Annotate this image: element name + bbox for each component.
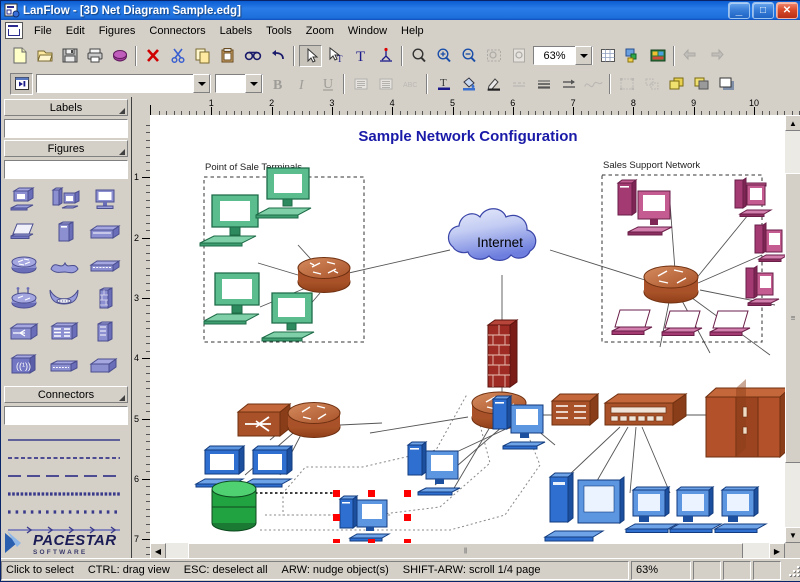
- ruler-tick: [142, 358, 150, 359]
- open-file-button[interactable]: [33, 45, 56, 67]
- zoom-selection-icon: [485, 47, 503, 64]
- find-button[interactable]: [241, 45, 264, 67]
- select-text-icon: T: [327, 47, 345, 64]
- diagram-title: Sample Network Configuration: [358, 128, 577, 145]
- status-hint-1: Click to select: [6, 564, 74, 576]
- ruler-label: 9: [691, 98, 696, 108]
- group-button[interactable]: [615, 73, 638, 95]
- ungroup-icon: [643, 76, 661, 92]
- vertical-ruler: 12345678: [132, 115, 151, 559]
- sidebar-group-figures-title: Figures: [48, 143, 85, 155]
- panel-toggle-button[interactable]: [10, 73, 33, 95]
- document-work-area: 1234567891011 12345678: [132, 97, 800, 559]
- v-scroll-grip: ≡: [791, 314, 796, 323]
- pos-terminal-2: [256, 168, 311, 218]
- zoom-out-icon: [460, 47, 478, 64]
- palette-item-modem-rack[interactable]: [85, 315, 125, 348]
- status-hints-panel: Click to select CTRL: drag view ESC: des…: [1, 561, 629, 580]
- ruler-tick: [142, 539, 150, 540]
- figure-props-icon: [624, 47, 642, 64]
- laptop-icon: [8, 220, 42, 246]
- spellcheck-icon: ABC: [401, 76, 421, 92]
- patch-panel: [552, 394, 598, 425]
- pos-router: [298, 258, 350, 293]
- svg-text:I: I: [298, 78, 305, 92]
- zoom-tool-icon: [410, 47, 428, 64]
- app-icon: [4, 3, 20, 18]
- cut-button[interactable]: [166, 45, 189, 67]
- arrow-style-icon: [560, 76, 578, 92]
- eraser-button[interactable]: [108, 45, 131, 67]
- sales-laptop-1: [612, 310, 652, 335]
- bold-button[interactable]: B: [266, 73, 289, 95]
- send-back-button[interactable]: [690, 73, 713, 95]
- sales-laptop-3: [710, 311, 750, 336]
- handle-e: [404, 514, 411, 521]
- document-icon[interactable]: [5, 22, 23, 39]
- delete-icon: [144, 47, 162, 64]
- scroll-up-arrow[interactable]: ▲: [785, 115, 800, 131]
- curve-button[interactable]: [582, 73, 605, 95]
- status-hint-3: ESC: deselect all: [184, 564, 268, 576]
- panel-toggle-icon: [14, 76, 30, 91]
- diagram-page[interactable]: Sample Network Configuration Point of Sa…: [150, 115, 785, 543]
- handle-ne: [404, 490, 411, 497]
- tower-monitor-icon: [48, 187, 82, 213]
- zoom-in-button[interactable]: [432, 45, 455, 67]
- text-tool-button[interactable]: T: [349, 45, 372, 67]
- grid-button[interactable]: [596, 45, 619, 67]
- pacestar-mark-icon: [3, 527, 33, 557]
- select-arrow-button[interactable]: [299, 45, 322, 67]
- spellcheck-button[interactable]: ABC: [399, 73, 422, 95]
- resize-grip-icon[interactable]: [119, 108, 125, 114]
- line-weight-icon: [535, 76, 553, 92]
- window-title: LanFlow - [3D Net Diagram Sample.edg]: [23, 5, 728, 17]
- selected-workstation: [340, 496, 389, 541]
- distribution-router: [288, 403, 340, 438]
- status-hint-5: SHIFT-ARW: scroll 1/4 page: [403, 564, 541, 576]
- horizontal-ruler: 1234567891011: [150, 97, 800, 116]
- connectors-combo[interactable]: [4, 406, 128, 425]
- eraser-icon: [111, 47, 129, 64]
- h-scroll-grip: ‖: [464, 547, 467, 556]
- ruler-tick: [142, 419, 150, 420]
- ruler-label: 7: [571, 98, 576, 108]
- shadow-icon: [718, 76, 736, 92]
- pacestar-logo: PACESTAR SOFTWARE: [1, 515, 132, 559]
- curve-icon: [583, 76, 604, 92]
- vertical-scrollbar[interactable]: ▲ ≡ ▼: [785, 115, 800, 543]
- server-tower-icon: [48, 220, 82, 246]
- firewall: [488, 320, 517, 387]
- svg-text:((¹)): ((¹)): [16, 361, 31, 371]
- arrow-style-button[interactable]: [557, 73, 580, 95]
- ruler-tick: [754, 107, 755, 115]
- h-scroll-track[interactable]: ‖: [166, 543, 769, 559]
- sales-pc-1: [735, 178, 771, 217]
- scroll-left-arrow[interactable]: ◀: [150, 543, 166, 559]
- svg-text:T: T: [337, 54, 343, 64]
- ruler-label: 4: [390, 98, 395, 108]
- line-color-icon: [485, 75, 503, 92]
- ruler-label: 6: [510, 98, 515, 108]
- ruler-tick: [142, 479, 150, 480]
- dotted-line-icon: [7, 490, 121, 498]
- svg-text:T: T: [356, 49, 365, 64]
- new-file-button[interactable]: [8, 45, 31, 67]
- open-file-icon: [36, 47, 54, 64]
- status-hint-2: CTRL: drag view: [88, 564, 170, 576]
- handle-nw: [333, 490, 340, 497]
- ruler-tick: [453, 107, 454, 115]
- line-color-button[interactable]: [482, 73, 505, 95]
- switch-flat-icon: [48, 352, 82, 378]
- ruler-label: 7: [134, 534, 139, 544]
- window-controls: _ □ ✕: [728, 2, 798, 19]
- print-icon: [86, 47, 104, 64]
- network-diagram: Sample Network Configuration Point of Sa…: [150, 115, 785, 543]
- modem-rack-icon: [88, 319, 122, 345]
- firewall-icon: [88, 286, 122, 312]
- connector-tool-icon: [377, 47, 395, 64]
- palette-item-wan-cloud[interactable]: [45, 249, 85, 282]
- ruler-tick: [694, 107, 695, 115]
- group-icon: [618, 76, 636, 92]
- palette-connector-long-dash[interactable]: [7, 467, 125, 485]
- undo-icon: [269, 47, 287, 64]
- h-scroll-thumb[interactable]: ‖: [188, 543, 743, 559]
- minimize-button[interactable]: _: [728, 2, 750, 19]
- labels-combo[interactable]: [4, 119, 128, 138]
- workstation-br-2: [626, 487, 677, 533]
- zoom-selection-button[interactable]: [482, 45, 505, 67]
- nudge-left-button[interactable]: [679, 45, 702, 67]
- font-size-combo[interactable]: [215, 74, 263, 93]
- zoom-level-combo[interactable]: 63%: [533, 46, 593, 65]
- internet-cloud: Internet: [448, 209, 535, 261]
- palette-item-switch-flat[interactable]: [45, 348, 85, 381]
- zoom-out-button[interactable]: [457, 45, 480, 67]
- status-bar: Click to select CTRL: drag view ESC: des…: [1, 558, 800, 581]
- ruler-tick: [633, 107, 634, 115]
- main-toolbar: T T: [1, 41, 800, 71]
- ruler-tick: [142, 298, 150, 299]
- ruler-label: 2: [134, 233, 139, 243]
- save-icon: [61, 47, 79, 64]
- switch: [605, 394, 686, 425]
- menu-item-edit[interactable]: Edit: [59, 23, 92, 39]
- copy-icon: [194, 47, 212, 64]
- ruler-tick: [272, 107, 273, 115]
- ruler-tick: [142, 238, 150, 239]
- ruler-tick: [332, 107, 333, 115]
- figure-palette: ((¹)): [1, 183, 131, 381]
- flat-monitor-icon: [88, 187, 122, 213]
- pos-terminal-3: [204, 273, 259, 324]
- zoom-dropdown-arrow[interactable]: [575, 46, 592, 65]
- palette-item-laptop[interactable]: [5, 216, 45, 249]
- palette-item-hub[interactable]: [5, 315, 45, 348]
- sidebar-group-connectors[interactable]: Connectors: [4, 386, 128, 403]
- hub-icon: [8, 319, 42, 345]
- ruler-tick: [392, 107, 393, 115]
- ruler-label: 3: [329, 98, 334, 108]
- wireless-router-icon: [8, 286, 42, 312]
- title-bar: LanFlow - [3D Net Diagram Sample.edg] _ …: [1, 1, 800, 20]
- palette-item-tower-monitor[interactable]: [45, 183, 85, 216]
- zoom-page-icon: [510, 47, 528, 64]
- v-scroll-track[interactable]: ≡: [785, 131, 800, 527]
- scroll-right-arrow[interactable]: ▶: [769, 543, 785, 559]
- palette-item-network-arc[interactable]: [45, 282, 85, 315]
- palette-icon: [649, 47, 667, 64]
- ruler-label: 8: [631, 98, 636, 108]
- database: [212, 481, 256, 531]
- switch-icon: [88, 253, 122, 279]
- select-text-button[interactable]: T: [324, 45, 347, 67]
- text-color-button[interactable]: T: [432, 73, 455, 95]
- line-weight-button[interactable]: [532, 73, 555, 95]
- server-rack: [706, 379, 785, 457]
- v-scroll-thumb[interactable]: ≡: [785, 173, 800, 463]
- menu-item-file[interactable]: File: [27, 23, 59, 39]
- ruler-label: 6: [134, 474, 139, 484]
- align-text-justify-icon: [377, 76, 395, 92]
- ruler-tick: [573, 107, 574, 115]
- shadow-button[interactable]: [715, 73, 738, 95]
- status-panel-4: [753, 561, 781, 580]
- connector-tool-button[interactable]: [374, 45, 397, 67]
- fill-color-icon: [460, 75, 478, 92]
- dashed-line-icon: [7, 454, 121, 462]
- zoom-page-button[interactable]: [507, 45, 530, 67]
- maximize-button[interactable]: □: [752, 2, 774, 19]
- status-zoom-panel: 63%: [631, 561, 691, 580]
- minimize-icon: _: [729, 3, 749, 18]
- align-text-justify-button[interactable]: [374, 73, 397, 95]
- resize-grip-icon[interactable]: [119, 149, 125, 155]
- menu-bar: File Edit Figures Connectors Labels Tool…: [1, 20, 800, 42]
- menu-item-connectors[interactable]: Connectors: [142, 23, 212, 39]
- palette-button[interactable]: [646, 45, 669, 67]
- ruler-corner: [132, 97, 151, 116]
- italic-icon: I: [294, 76, 312, 92]
- menu-item-figures[interactable]: Figures: [92, 23, 143, 39]
- hub: [238, 404, 290, 436]
- ruler-label: 4: [134, 353, 139, 363]
- svg-text:ABC: ABC: [403, 82, 417, 89]
- print-button[interactable]: [83, 45, 106, 67]
- sidebar-group-figures[interactable]: Figures: [4, 140, 128, 157]
- new-file-icon: [11, 47, 29, 64]
- long-dash-line-icon: [7, 472, 121, 480]
- pos-terminal-1: [200, 195, 258, 246]
- font-name-dropdown-arrow[interactable]: [193, 74, 210, 93]
- save-button[interactable]: [58, 45, 81, 67]
- zoom-level-value: 63%: [534, 50, 575, 62]
- status-panel-3: [723, 561, 751, 580]
- find-icon: [244, 47, 262, 64]
- paste-icon: [219, 47, 237, 64]
- paste-button[interactable]: [216, 45, 239, 67]
- underline-button[interactable]: U: [316, 73, 339, 95]
- sales-router: [644, 266, 698, 303]
- figure-properties-button[interactable]: [621, 45, 644, 67]
- palette-item-server-tower[interactable]: [45, 216, 85, 249]
- box-3d-icon: [88, 352, 122, 378]
- italic-button[interactable]: I: [291, 73, 314, 95]
- palette-item-box-3d[interactable]: [85, 348, 125, 381]
- logo-subtitle: SOFTWARE: [33, 549, 116, 556]
- line-style-button[interactable]: [507, 73, 530, 95]
- zoom-tool-button[interactable]: [407, 45, 430, 67]
- router-icon: [8, 253, 42, 279]
- ruler-label: 10: [749, 98, 759, 108]
- maximize-icon: □: [753, 3, 773, 18]
- status-hint-4: ARW: nudge object(s): [282, 564, 389, 576]
- workstation-left-2: [244, 446, 292, 487]
- line-style-icon: [510, 76, 528, 92]
- palette-connector-solid[interactable]: [7, 431, 125, 449]
- palette-connector-dashed[interactable]: [7, 449, 125, 467]
- close-icon: ✕: [777, 3, 797, 18]
- select-arrow-icon: [302, 47, 320, 64]
- workstation-br-4: [715, 487, 766, 533]
- menu-item-labels[interactable]: Labels: [213, 23, 259, 39]
- bold-icon: B: [269, 76, 287, 92]
- workstation-br-3: [670, 487, 721, 533]
- diagram-canvas[interactable]: Sample Network Configuration Point of Sa…: [150, 115, 785, 543]
- sales-laptop-2: [662, 311, 702, 336]
- rack-unit-icon: [88, 220, 122, 246]
- palette-item-router[interactable]: [5, 249, 45, 282]
- cut-icon: [169, 47, 187, 64]
- palette-item-desktop-computer[interactable]: [5, 183, 45, 216]
- status-panel-2: [693, 561, 721, 580]
- palette-item-patch-panel[interactable]: [45, 315, 85, 348]
- nudge-right-button[interactable]: [704, 45, 727, 67]
- fill-color-button[interactable]: [457, 73, 480, 95]
- bring-front-button[interactable]: [665, 73, 688, 95]
- format-toolbar: B I U: [1, 70, 800, 98]
- desktop-computer-icon: [8, 187, 42, 213]
- workstation-br-1: [545, 473, 624, 541]
- ruler-label: 5: [134, 414, 139, 424]
- palette-item-firewall[interactable]: [85, 282, 125, 315]
- font-name-combo[interactable]: [36, 74, 211, 93]
- svg-text:T: T: [440, 77, 447, 89]
- scroll-corner: [785, 543, 800, 559]
- menu-item-help[interactable]: Help: [394, 23, 431, 39]
- copy-button[interactable]: [191, 45, 214, 67]
- ruler-label: 1: [209, 98, 214, 108]
- logo-name: PACESTAR: [33, 532, 116, 549]
- ruler-tick: [142, 177, 150, 178]
- align-right-icon: [707, 47, 725, 64]
- ruler-tick: [211, 107, 212, 115]
- sidebar-group-labels-title: Labels: [50, 102, 82, 114]
- figure-sidebar: Labels Figures: [1, 97, 132, 559]
- internet-label: Internet: [477, 235, 523, 250]
- palette-item-flat-monitor[interactable]: [85, 183, 125, 216]
- menu-item-zoom[interactable]: Zoom: [299, 23, 341, 39]
- menu-item-tools[interactable]: Tools: [259, 23, 299, 39]
- zoom-in-icon: [435, 47, 453, 64]
- ruler-label: 5: [450, 98, 455, 108]
- ungroup-button[interactable]: [640, 73, 663, 95]
- align-left-icon: [682, 47, 700, 64]
- align-text-left-icon: [352, 76, 370, 92]
- resize-grip-icon[interactable]: [119, 395, 125, 401]
- figures-combo[interactable]: [4, 160, 128, 179]
- pos-terminal-4: [262, 293, 314, 341]
- font-size-dropdown-arrow[interactable]: [245, 74, 262, 93]
- send-back-icon: [693, 76, 711, 92]
- wan-cloud-icon: [48, 253, 82, 279]
- text-tool-icon: T: [352, 47, 370, 64]
- underline-icon: U: [319, 76, 337, 92]
- ruler-label: 1: [134, 172, 139, 182]
- network-arc-icon: [48, 286, 82, 312]
- palette-connector-dotted[interactable]: [7, 485, 125, 503]
- ruler-label: 2: [269, 98, 274, 108]
- application-window: LanFlow - [3D Net Diagram Sample.edg] _ …: [0, 0, 800, 582]
- handle-n: [368, 490, 375, 497]
- sidebar-group-labels[interactable]: Labels: [4, 99, 128, 116]
- horizontal-scrollbar[interactable]: ◀ ‖ ▶: [150, 543, 785, 559]
- text-color-icon: T: [435, 75, 453, 92]
- align-text-left-button[interactable]: [349, 73, 372, 95]
- menu-item-window[interactable]: Window: [341, 23, 394, 39]
- handle-w: [333, 514, 340, 521]
- ruler-tick: [513, 107, 514, 115]
- sales-server-1: [618, 180, 672, 235]
- ruler-label: 3: [134, 293, 139, 303]
- resize-grip[interactable]: [785, 562, 800, 578]
- wireless-ap-icon: ((¹)): [8, 352, 42, 378]
- delete-button[interactable]: [141, 45, 164, 67]
- undo-button[interactable]: [266, 45, 289, 67]
- grid-icon: [599, 47, 617, 64]
- solid-line-icon: [7, 436, 121, 444]
- palette-item-switch[interactable]: [85, 249, 125, 282]
- palette-item-wireless-router[interactable]: [5, 282, 45, 315]
- palette-item-rack-unit[interactable]: [85, 216, 125, 249]
- scroll-down-arrow[interactable]: ▼: [785, 527, 800, 543]
- sales-group-label: Sales Support Network: [603, 160, 700, 171]
- bring-front-icon: [668, 76, 686, 92]
- close-button[interactable]: ✕: [776, 2, 798, 19]
- patch-panel-icon: [48, 319, 82, 345]
- svg-text:B: B: [273, 78, 282, 92]
- palette-item-wireless-ap[interactable]: ((¹)): [5, 348, 45, 381]
- sidebar-group-connectors-title: Connectors: [38, 389, 94, 401]
